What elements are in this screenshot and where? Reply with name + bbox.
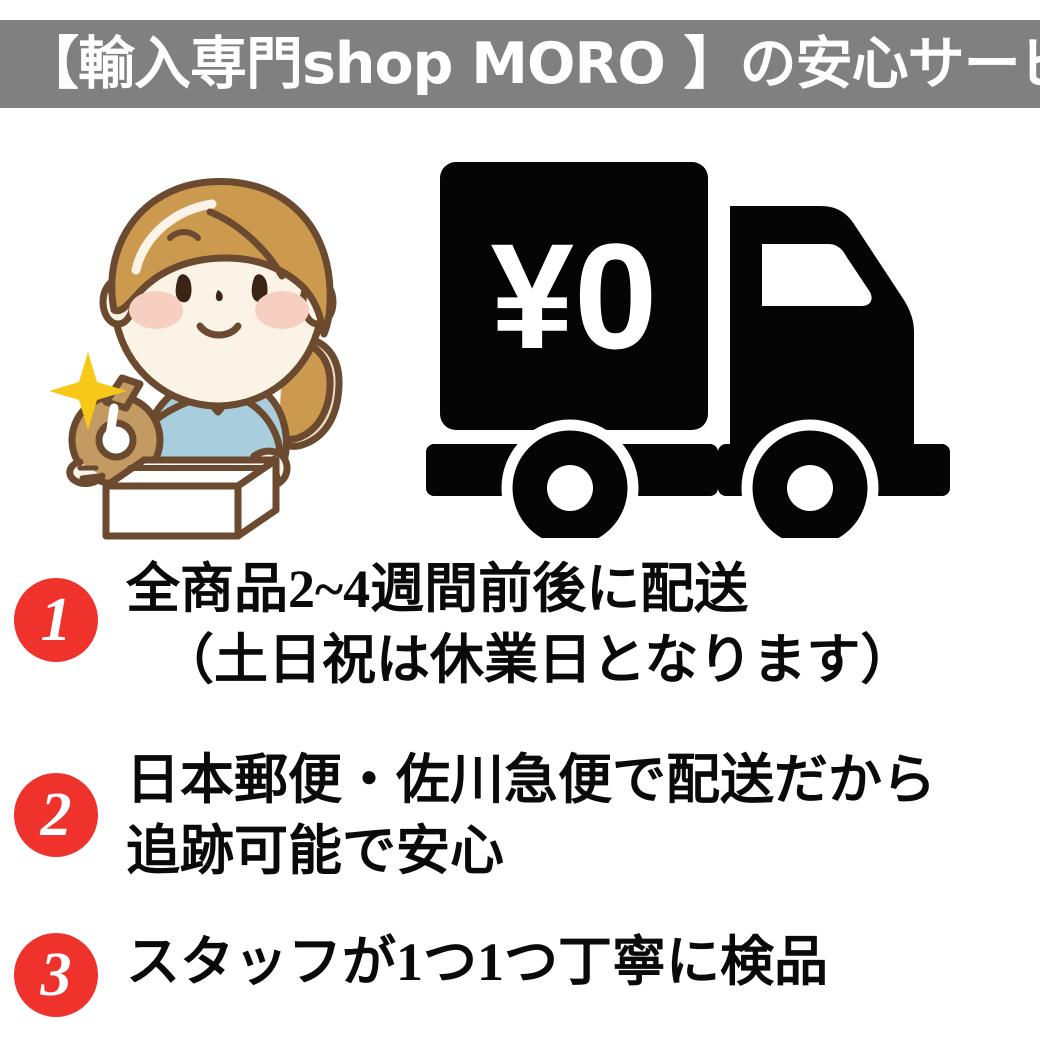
free-shipping-label: ¥0 [491, 212, 658, 380]
list-item-2-line-1: 日本郵便・佐川急便で配送だから [126, 745, 1040, 816]
list-item-text-1: 全商品2~4週間前後に配送 （土日祝は休業日となります） [98, 554, 1040, 697]
header-banner: 【輸入専門shop MORO 】の安心サービス [0, 20, 1040, 108]
list-number-badge-1: 1 [14, 578, 98, 662]
staff-woman-illustration [40, 150, 410, 540]
service-list: 1 全商品2~4週間前後に配送 （土日祝は休業日となります） 2 日本郵便・佐川… [0, 548, 1040, 1017]
list-item: 1 全商品2~4週間前後に配送 （土日祝は休業日となります） [0, 554, 1040, 697]
header-title: 【輸入専門shop MORO 】の安心サービス [0, 36, 1040, 93]
promo-banner-page: 【輸入専門shop MORO 】の安心サービス [0, 0, 1040, 1040]
list-item: 2 日本郵便・佐川急便で配送だから 追跡可能で安心 [0, 745, 1040, 888]
list-number-badge-3: 3 [14, 933, 98, 1017]
list-item-1-line-2: （土日祝は休業日となります） [126, 625, 1040, 696]
list-number-badge-2: 2 [14, 773, 98, 857]
list-item-2-line-2: 追跡可能で安心 [126, 816, 1040, 887]
list-item: 3 スタッフが1つ1つ丁寧に検品 [0, 927, 1040, 1017]
list-item-1-line-1: 全商品2~4週間前後に配送 [126, 554, 1040, 625]
delivery-truck-illustration: ¥0 [418, 148, 998, 538]
list-item-text-2: 日本郵便・佐川急便で配送だから 追跡可能で安心 [98, 745, 1040, 888]
list-item-3-line-1: スタッフが1つ1つ丁寧に検品 [126, 927, 1040, 998]
illustration-row: ¥0 [0, 140, 1040, 540]
list-item-text-3: スタッフが1つ1つ丁寧に検品 [98, 927, 1040, 998]
